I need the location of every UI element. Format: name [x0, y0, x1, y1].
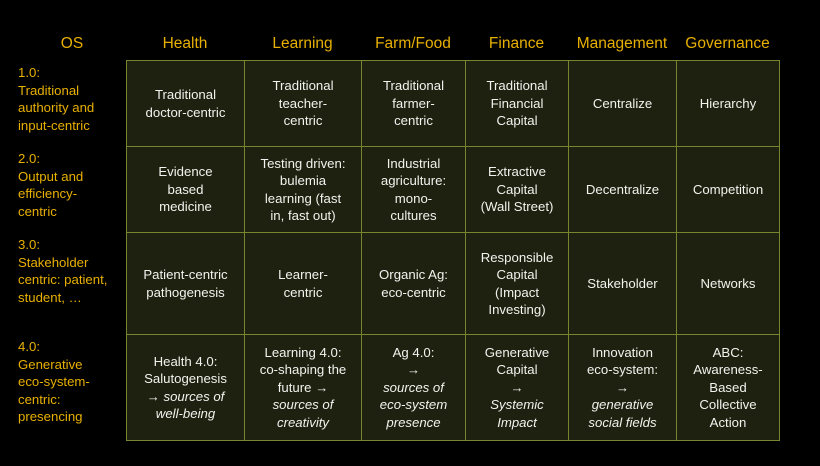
column-header-farm-food: Farm/Food [361, 30, 465, 58]
cell-1-3[interactable]: ExtractiveCapital(Wall Street) [466, 147, 569, 233]
cell-3-1[interactable]: Learning 4.0:co-shaping thefuture →sourc… [245, 335, 362, 441]
cell-0-3[interactable]: TraditionalFinancialCapital [466, 61, 569, 147]
table-row: Traditionaldoctor-centric Traditionaltea… [127, 61, 780, 147]
os-label-3: 3.0:Stakeholdercentric: patient,student,… [18, 236, 130, 306]
cell-2-0[interactable]: Patient-centricpathogenesis [127, 233, 245, 335]
column-header-row: OS Health Learning Farm/Food Finance Man… [0, 30, 820, 58]
os-label-1: 1.0:Traditionalauthority andinput-centri… [18, 64, 130, 134]
column-header-finance: Finance [465, 30, 568, 58]
cell-1-0[interactable]: Evidencebasedmedicine [127, 147, 245, 233]
cell-0-4[interactable]: Centralize [569, 61, 677, 147]
table-row: Evidencebasedmedicine Testing driven:bul… [127, 147, 780, 233]
column-header-health: Health [126, 30, 244, 58]
cell-2-2[interactable]: Organic Ag:eco-centric [362, 233, 466, 335]
cell-3-2[interactable]: Ag 4.0:→sources ofeco-systempresence [362, 335, 466, 441]
cell-0-0[interactable]: Traditionaldoctor-centric [127, 61, 245, 147]
cell-0-1[interactable]: Traditionalteacher-centric [245, 61, 362, 147]
cell-3-0[interactable]: Health 4.0:Salutogenesis→ sources ofwell… [127, 335, 245, 441]
cell-2-4[interactable]: Stakeholder [569, 233, 677, 335]
os-label-column: 1.0:Traditionalauthority andinput-centri… [18, 60, 126, 440]
cell-2-3[interactable]: ResponsibleCapital(ImpactInvesting) [466, 233, 569, 335]
cell-0-2[interactable]: Traditionalfarmer-centric [362, 61, 466, 147]
column-header-management: Management [568, 30, 676, 58]
cell-3-4[interactable]: Innovationeco-system:→generativesocial f… [569, 335, 677, 441]
matrix-body: Traditionaldoctor-centric Traditionaltea… [127, 61, 780, 441]
cell-2-5[interactable]: Networks [677, 233, 780, 335]
cell-1-4[interactable]: Decentralize [569, 147, 677, 233]
cell-0-5[interactable]: Hierarchy [677, 61, 780, 147]
column-header-governance: Governance [676, 30, 779, 58]
cell-3-3[interactable]: GenerativeCapital→SystemicImpact [466, 335, 569, 441]
cell-1-1[interactable]: Testing driven:bulemialearning (fastin, … [245, 147, 362, 233]
os-matrix-table: Traditionaldoctor-centric Traditionaltea… [126, 60, 780, 441]
corner-label-os: OS [18, 30, 126, 58]
cell-1-5[interactable]: Competition [677, 147, 780, 233]
cell-3-5[interactable]: ABC:Awareness-BasedCollectiveAction [677, 335, 780, 441]
os-label-4: 4.0:Generativeeco-system-centric:presenc… [18, 338, 130, 426]
os-label-2: 2.0:Output andefficiency-centric [18, 150, 130, 220]
table-row: Patient-centricpathogenesis Learner-cent… [127, 233, 780, 335]
column-header-learning: Learning [244, 30, 361, 58]
slide-canvas: OS Health Learning Farm/Food Finance Man… [0, 0, 820, 466]
cell-2-1[interactable]: Learner-centric [245, 233, 362, 335]
table-row: Health 4.0:Salutogenesis→ sources ofwell… [127, 335, 780, 441]
cell-1-2[interactable]: Industrialagriculture:mono-cultures [362, 147, 466, 233]
